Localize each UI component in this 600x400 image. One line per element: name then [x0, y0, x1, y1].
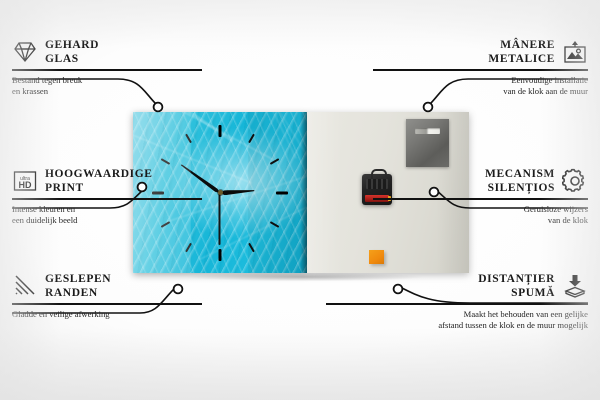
callout-title-line2: RANDEN — [45, 286, 111, 300]
callout-subtitle-line1: Intense kleuren en — [12, 204, 202, 215]
callout-title-line1: GEHARD — [45, 38, 99, 52]
callout-subtitle-line1: Geruisloze wijzers — [373, 204, 588, 215]
callout-geslepen-randen: GESLEPEN RANDEN Gladde en veilige afwerk… — [12, 272, 202, 320]
callout-subtitle-line2: van de klok aan de muur — [373, 86, 588, 97]
callout-title-line1: DISTANȚIER — [478, 272, 555, 286]
connector-dot-gehard-glas — [154, 103, 163, 112]
clock-second-hand — [219, 193, 221, 245]
callout-distantier-spuma: DISTANȚIER SPUMĂ Maakt het behouden van … — [326, 272, 588, 331]
callout-gehard-glas: GEHARD GLAS Bestand tegen breuk en krass… — [12, 38, 202, 97]
callout-title-line2: PRINT — [45, 181, 153, 195]
callout-title-line1: MECANISM — [485, 167, 555, 181]
ultra-hd-icon: ultra HD — [12, 168, 38, 194]
callout-rule — [12, 303, 202, 305]
hanger-slot — [415, 128, 440, 134]
svg-text:HD: HD — [19, 180, 32, 190]
callout-manere-metalice: MÂNERE METALICE Eenvoudige installatie v… — [373, 38, 588, 97]
callout-rule — [12, 69, 202, 71]
beveled-edge-icon — [12, 273, 38, 299]
callout-subtitle-line1: Maakt het behouden van een gelijke — [326, 309, 588, 320]
callout-subtitle-line2: afstand tussen de klok en de muur mogeli… — [326, 320, 588, 331]
callout-subtitle-line1: Bestand tegen breuk — [12, 75, 202, 86]
callout-title-line1: GESLEPEN — [45, 272, 111, 286]
gear-icon — [562, 168, 588, 194]
callout-title-line2: SILENȚIOS — [485, 181, 555, 195]
infographic-canvas: GEHARD GLAS Bestand tegen breuk en krass… — [0, 0, 600, 400]
callout-subtitle-line2: een duidelijk beeld — [12, 215, 202, 226]
callout-mecanism-silentios: MECANISM SILENȚIOS Geruisloze wijzers va… — [373, 167, 588, 226]
picture-hanger-icon — [562, 39, 588, 65]
foam-spacer-icon — [562, 273, 588, 299]
diamond-icon — [12, 39, 38, 65]
callout-title-line2: SPUMĂ — [478, 286, 555, 300]
callout-title-line1: MÂNERE — [488, 38, 555, 52]
callout-subtitle-line2: en krassen — [12, 86, 202, 97]
callout-rule — [373, 198, 588, 200]
clock-center-pin — [218, 190, 223, 195]
callout-subtitle-line1: Gladde en veilige afwerking — [12, 309, 202, 320]
connector-dot-manere-metalice — [424, 103, 433, 112]
clock-hour-hand — [220, 188, 254, 195]
callout-hoogwaardige-print: ultra HD HOOGWAARDIGE PRINT Intense kleu… — [12, 167, 202, 226]
callout-title-line2: METALICE — [488, 52, 555, 66]
callout-title-line1: HOOGWAARDIGE — [45, 167, 153, 181]
foam-spacer-part — [369, 250, 384, 264]
callout-title-line2: GLAS — [45, 52, 99, 66]
callout-rule — [326, 303, 588, 305]
callout-rule — [373, 69, 588, 71]
callout-subtitle-line1: Eenvoudige installatie — [373, 75, 588, 86]
callout-subtitle-line2: van de klok — [373, 215, 588, 226]
metal-hanger-part — [406, 119, 449, 167]
callout-rule — [12, 198, 202, 200]
